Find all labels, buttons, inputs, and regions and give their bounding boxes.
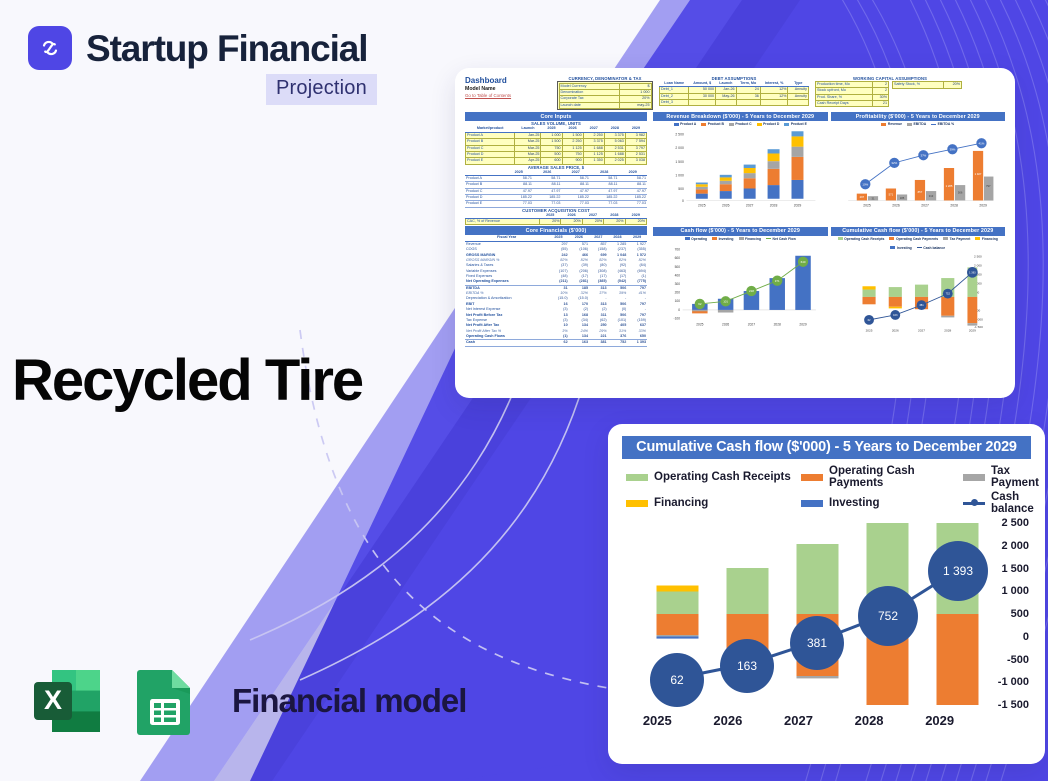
dashboard-preview-card: Dashboard Model Name Go to Table of Cont…	[455, 68, 1015, 398]
legend-item: Product E	[784, 122, 807, 126]
table-row: EBITDA %10%32%37%39%41%	[465, 291, 647, 296]
svg-text:2027: 2027	[748, 322, 755, 326]
cell: 1 393	[627, 340, 647, 346]
svg-text:2029: 2029	[794, 204, 802, 208]
row-label: Net Profit After Tax %	[465, 329, 548, 334]
legend-swatch	[963, 502, 985, 505]
cell[interactable]	[760, 100, 788, 106]
row-label: GROSS MARGIN %	[465, 258, 548, 263]
svg-text:62: 62	[698, 302, 702, 306]
cell: 82%	[548, 258, 568, 263]
cell[interactable]	[736, 100, 760, 106]
x-axis-tick: 2028	[834, 713, 905, 728]
legend-label: Operating Cash Receipts	[654, 471, 791, 483]
cell[interactable]: 20%	[604, 219, 625, 225]
legend-item: Operating Cash Payments	[889, 237, 938, 241]
cell[interactable]: 600	[541, 158, 562, 164]
svg-text:31: 31	[871, 197, 875, 201]
wc-side-value[interactable]: 20%	[943, 82, 961, 89]
svg-text:2 500: 2 500	[675, 133, 684, 137]
legend-item: Investing	[801, 491, 963, 515]
legend-item: Operating Cash Payments	[801, 465, 963, 489]
svg-text:2026: 2026	[892, 204, 900, 208]
y-axis-tick: 2 500	[1001, 517, 1029, 529]
chart-cashflow-plot: 700600500 400300200 1000-100	[653, 242, 828, 328]
svg-text:41%: 41%	[978, 142, 984, 146]
chart-profitability-plot: 297571857 1 2851 927 31185313 506797	[831, 127, 1006, 209]
cash-balance-bubble: 381	[790, 616, 844, 670]
chart-profitability-title: Profitability ($'000) - 5 Years to Decem…	[831, 112, 1006, 121]
cell[interactable]: 20%	[625, 219, 646, 225]
cell: 82%	[608, 258, 628, 263]
cell[interactable]: 20%	[540, 219, 561, 225]
legend-swatch	[739, 237, 744, 239]
svg-text:2 000: 2 000	[675, 147, 684, 151]
debt-assumptions-box: DEBT ASSUMPTIONS Loan NameAmount, $Launc…	[659, 76, 809, 106]
cell[interactable]: 77.03	[504, 201, 533, 207]
svg-text:2026: 2026	[891, 328, 898, 332]
svg-text:400: 400	[675, 273, 681, 277]
svg-text:2029: 2029	[799, 322, 806, 326]
dashboard-title: Dashboard	[465, 76, 551, 85]
cashflow-x-axis: 20252026202720282029	[622, 713, 975, 728]
svg-text:1 285: 1 285	[945, 184, 952, 188]
product-name: Product E	[465, 201, 504, 207]
cell: 41%	[627, 291, 647, 296]
svg-text:2029: 2029	[979, 204, 987, 208]
core-financials-band: Core Financials ($'000)	[465, 226, 647, 235]
product-name: Product E	[466, 158, 515, 164]
cell: 82%	[569, 258, 589, 263]
svg-text:371: 371	[775, 278, 780, 282]
launch-date[interactable]: Apr-25	[515, 158, 541, 164]
currency-assumptions-box: CURRENCY, DENOMINATOR & TAX Model Curren…	[557, 76, 653, 110]
legend-swatch	[757, 123, 762, 125]
table-row: GROSS MARGIN %82%82%82%82%82%	[465, 258, 647, 263]
svg-text:2029: 2029	[968, 328, 975, 332]
cell: 752	[608, 340, 628, 346]
cell: 82%	[589, 258, 608, 263]
cash-balance-bubble: 62	[650, 653, 704, 707]
legend-swatch	[881, 123, 886, 125]
svg-text:X: X	[44, 685, 62, 715]
sales-volume-table[interactable]: Market/productLaunch20252026202720282029…	[465, 126, 647, 164]
svg-text:600: 600	[675, 256, 681, 260]
svg-text:500: 500	[678, 188, 684, 192]
table-row[interactable]: Launch date may-25	[559, 102, 651, 108]
y-axis-tick: -1 500	[998, 699, 1029, 711]
legend-item: Tax Payment	[943, 237, 970, 241]
legend-swatch	[729, 123, 734, 125]
legend-swatch	[889, 237, 894, 239]
cashflow-y-axis: 2 5002 0001 5001 0005000-500-1 000-1 500	[981, 523, 1031, 705]
y-axis-tick: 2 000	[1001, 540, 1029, 552]
y-axis-tick: 0	[1023, 631, 1029, 643]
svg-text:1 927: 1 927	[974, 172, 981, 176]
core-inputs-band: Core Inputs	[465, 112, 647, 121]
legend-item: EBITDA	[907, 122, 926, 126]
svg-text:0: 0	[678, 307, 680, 311]
legend-item: Investing	[890, 246, 911, 250]
svg-text:500: 500	[675, 264, 681, 268]
cell: 39%	[608, 291, 628, 296]
table-row[interactable]: CAC, % of Revenue20%20%20%20%20%	[466, 219, 647, 225]
cell: 62	[548, 340, 568, 346]
legend-item: Financing	[626, 491, 801, 515]
svg-text:2028: 2028	[950, 204, 958, 208]
legend-item: Operating	[685, 237, 708, 241]
legend-swatch	[963, 474, 985, 481]
legend-label: Investing	[829, 497, 879, 509]
row-value[interactable]: 21	[872, 101, 888, 107]
cell: 29%	[589, 329, 608, 334]
svg-text:2026: 2026	[722, 322, 729, 326]
chart-profitability: Profitability ($'000) - 5 Years to Decem…	[831, 112, 1006, 223]
cell: 37%	[589, 291, 608, 296]
chart-cumulative-legend: Operating Cash Receipts Operating Cash P…	[831, 236, 1006, 251]
legend-swatch	[626, 500, 648, 507]
svg-text:700: 700	[675, 247, 681, 251]
app-badges: X Financial model	[28, 662, 466, 740]
legend-item: Net Cash Flow	[766, 237, 796, 241]
legend-label: Cash balance	[991, 491, 1039, 515]
legend-swatch	[943, 237, 948, 239]
legend-label: Tax Payment	[991, 465, 1039, 489]
legend-swatch	[801, 474, 823, 481]
legend-item: Financing	[739, 237, 762, 241]
svg-text:2026: 2026	[722, 204, 730, 208]
e-logo-icon	[28, 26, 72, 70]
svg-text:2027: 2027	[918, 328, 925, 332]
row-label: Cash	[465, 340, 548, 346]
core-financials-table[interactable]: Fiscal Year20252026202720282029 Revenue2…	[465, 235, 647, 346]
working-capital-box: WORKING CAPITAL ASSUMPTIONS Production t…	[815, 76, 965, 107]
cell[interactable]: 77.03	[533, 201, 562, 207]
legend-swatch	[975, 237, 980, 239]
wc-side-label: Safety Stock, %	[893, 82, 944, 89]
legend-swatch	[626, 474, 648, 481]
table-row[interactable]: Cash Receipt Days 21	[816, 101, 889, 107]
legend-swatch	[931, 124, 936, 125]
svg-text:2025: 2025	[865, 328, 872, 332]
cell: 24%	[569, 329, 589, 334]
cell: 163	[569, 340, 589, 346]
legend-swatch	[701, 123, 706, 125]
x-axis-tick: 2027	[763, 713, 834, 728]
chart-revenue-breakdown: Revenue Breakdown ($'000) - 5 Years to D…	[653, 112, 828, 223]
y-axis-tick: -1 000	[998, 676, 1029, 688]
chart-cumulative-cash-flow: Cumulative Cash flow ($'000) - 5 Years t…	[831, 227, 1006, 347]
y-axis-tick: 500	[1011, 608, 1029, 620]
svg-text:2028: 2028	[944, 328, 951, 332]
table-row: Cash621633817521 393	[465, 340, 647, 346]
svg-text:2027: 2027	[921, 204, 929, 208]
app-badge-label: Financial model	[232, 682, 466, 720]
google-sheets-icon	[126, 662, 204, 740]
sales-price-table[interactable]: 20252026202720282029 Product A58.7158.71…	[465, 170, 647, 208]
y-axis-tick: 1 000	[1001, 585, 1029, 597]
cell[interactable]	[788, 100, 809, 106]
legend-item: Financing	[975, 237, 998, 241]
legend-swatch	[907, 123, 912, 125]
y-axis-tick: -500	[1007, 654, 1029, 666]
x-axis-tick: 2029	[904, 713, 975, 728]
svg-text:100: 100	[675, 299, 681, 303]
legend-swatch	[890, 246, 895, 248]
table-row[interactable]: Product E Apr-256009001 3502 0253 038	[466, 158, 647, 164]
cell: 32%	[569, 291, 589, 296]
svg-text:2 500: 2 500	[974, 254, 982, 258]
svg-text:297: 297	[859, 195, 864, 199]
svg-text:37%: 37%	[920, 154, 926, 158]
cell[interactable]: 77.03	[590, 201, 619, 207]
svg-text:185: 185	[899, 196, 904, 200]
svg-text:381: 381	[919, 303, 924, 307]
cell[interactable]: 20%	[561, 219, 582, 225]
legend-swatch	[838, 237, 843, 239]
page-title: Recycled Tire	[12, 352, 362, 410]
legend-item: Investing	[712, 237, 733, 241]
brand-lockup: Startup Financial	[28, 26, 367, 70]
svg-text:300: 300	[675, 282, 681, 286]
microsoft-excel-icon: X	[28, 662, 106, 740]
cell[interactable]	[716, 100, 736, 106]
brand-subtitle: Projection	[266, 74, 377, 105]
legend-swatch	[712, 237, 717, 239]
row-label: Launch date	[559, 102, 619, 108]
cash-balance-bubble: 163	[720, 639, 774, 693]
chart-cumulative-plot: 2 5002 0001 500 1 0005000 -500-1 000-1 5…	[831, 251, 1006, 333]
cell: 33%	[627, 329, 647, 334]
svg-text:0: 0	[682, 200, 684, 204]
svg-text:32%: 32%	[891, 162, 897, 166]
chart-revenue-plot: 2 5002 0001 500 1 0005000	[653, 127, 828, 209]
legend-label: Financing	[654, 497, 708, 509]
svg-text:1 393: 1 393	[969, 270, 976, 274]
dashboard-sheet: Dashboard Model Name Go to Table of Cont…	[465, 76, 1005, 390]
row-label: CAC, % of Revenue	[466, 219, 540, 225]
legend-item: Cash balance	[917, 246, 945, 250]
svg-text:313: 313	[928, 194, 933, 198]
legend-label: Operating Cash Payments	[829, 465, 963, 489]
svg-text:797: 797	[986, 184, 991, 188]
svg-text:101: 101	[723, 299, 728, 303]
svg-text:2028: 2028	[774, 322, 781, 326]
legend-swatch	[784, 123, 789, 125]
x-axis-tick: 2026	[693, 713, 764, 728]
cell[interactable]: 900	[562, 158, 583, 164]
table-row: Net Profit After Tax %3%24%29%31%33%	[465, 329, 647, 334]
cell[interactable]: 77.03	[618, 201, 647, 207]
cell[interactable]: 1 350	[583, 158, 604, 164]
dashboard-left-column: Core Inputs SALES VOLUME, UNITS Market/p…	[465, 112, 647, 346]
dashboard-charts-grid: Revenue Breakdown ($'000) - 5 Years to D…	[653, 112, 1005, 346]
legend-item: Cash balance	[963, 491, 1039, 515]
legend-swatch	[674, 123, 679, 125]
svg-text:2025: 2025	[696, 322, 703, 326]
legend-item: Product C	[729, 122, 752, 126]
table-row[interactable]: Debt_3	[660, 100, 809, 106]
cell: 31%	[608, 329, 628, 334]
cell[interactable]: 20%	[582, 219, 603, 225]
svg-text:2 000: 2 000	[974, 263, 982, 267]
legend-swatch	[685, 237, 690, 239]
cell: 381	[589, 340, 608, 346]
y-axis-tick: 1 500	[1001, 563, 1029, 575]
chart-cumulative-title: Cumulative Cash flow ($'000) - 5 Years t…	[831, 227, 1006, 236]
svg-text:39%: 39%	[949, 148, 955, 152]
legend-item: Product D	[757, 122, 780, 126]
cell: 3%	[548, 329, 568, 334]
legend-item: Tax Payment	[963, 465, 1039, 489]
legend-item: EBITDA %	[931, 122, 954, 126]
svg-text:2027: 2027	[746, 204, 754, 208]
chart-cashflow-title: Cash flow ($'000) - 5 Years to December …	[653, 227, 828, 236]
x-axis-tick: 2025	[622, 713, 693, 728]
legend-item: Operating Cash Receipts	[626, 465, 801, 489]
legend-item: Product A	[674, 122, 697, 126]
cell[interactable]: 3 038	[625, 158, 646, 164]
legend-swatch	[917, 247, 922, 248]
svg-text:10%: 10%	[862, 183, 868, 187]
cac-table[interactable]: 20252026202720282029 CAC, % of Revenue20…	[465, 213, 647, 226]
svg-text:163: 163	[893, 312, 898, 316]
debt-table[interactable]: Loan NameAmount, $LaunchTerm, MoInterest…	[659, 81, 809, 106]
svg-text:200: 200	[675, 290, 681, 294]
cell[interactable]	[689, 100, 716, 106]
legend-item: Product B	[701, 122, 724, 126]
row-label: Cash Receipt Days	[816, 101, 873, 107]
svg-text:752: 752	[945, 291, 950, 295]
chart-revenue-title: Revenue Breakdown ($'000) - 5 Years to D…	[653, 112, 828, 121]
legend-item: Operating Cash Receipts	[838, 237, 885, 241]
row-value[interactable]: may-25	[619, 102, 651, 108]
svg-text:640: 640	[801, 260, 806, 264]
svg-text:2028: 2028	[770, 204, 778, 208]
svg-text:2025: 2025	[698, 204, 706, 208]
svg-text:218: 218	[749, 289, 754, 293]
cell[interactable]: Debt_3	[660, 100, 689, 106]
toc-link[interactable]: Go to Table of Contents	[465, 93, 551, 98]
row-label: EBITDA %	[465, 291, 548, 296]
legend-swatch	[801, 500, 823, 507]
currency-box-caption: CURRENCY, DENOMINATOR & TAX	[557, 76, 653, 81]
legend-swatch	[766, 238, 771, 239]
cell: 10%	[548, 291, 568, 296]
dashboard-model-name: Model Name	[465, 86, 551, 92]
cumulative-cashflow-plot: 62 163 381 752 1 393 2 5002 0001 5001 00…	[622, 523, 1031, 728]
svg-text:-100: -100	[674, 316, 681, 320]
cell: 82%	[627, 258, 647, 263]
svg-text:1 000: 1 000	[675, 174, 684, 178]
svg-text:2025: 2025	[863, 204, 871, 208]
cell[interactable]: 2 025	[604, 158, 625, 164]
cumulative-cashflow-card: Cumulative Cash flow ($'000) - 5 Years t…	[608, 424, 1045, 764]
svg-text:857: 857	[917, 190, 922, 194]
slide-canvas: Startup Financial Projection Recycled Ti…	[0, 0, 1048, 781]
cumulative-cashflow-legend: Operating Cash Receipts Operating Cash P…	[622, 465, 1031, 515]
wc-table[interactable]: Production time, Mo 2 Stock upfront, Mo …	[815, 81, 889, 107]
cell[interactable]: 77.03	[561, 201, 590, 207]
wc-side-table[interactable]: Safety Stock, % 20%	[892, 81, 962, 89]
legend-item: Revenue	[881, 122, 902, 126]
brand-title: Startup Financial	[86, 30, 367, 67]
cumulative-cashflow-title: Cumulative Cash flow ($'000) - 5 Years t…	[622, 436, 1031, 459]
table-row[interactable]: Product E77.0377.0377.0377.0377.03	[465, 201, 647, 207]
cash-balance-bubble: 1 393	[928, 541, 988, 601]
svg-text:571: 571	[888, 193, 893, 197]
cash-balance-bubble: 752	[858, 586, 918, 646]
svg-text:506: 506	[957, 191, 962, 195]
svg-text:1 500: 1 500	[675, 160, 684, 164]
currency-table[interactable]: Model Currency $ Denomination 1 000 Corp…	[559, 83, 652, 109]
chart-cash-flow: Cash flow ($'000) - 5 Years to December …	[653, 227, 828, 347]
